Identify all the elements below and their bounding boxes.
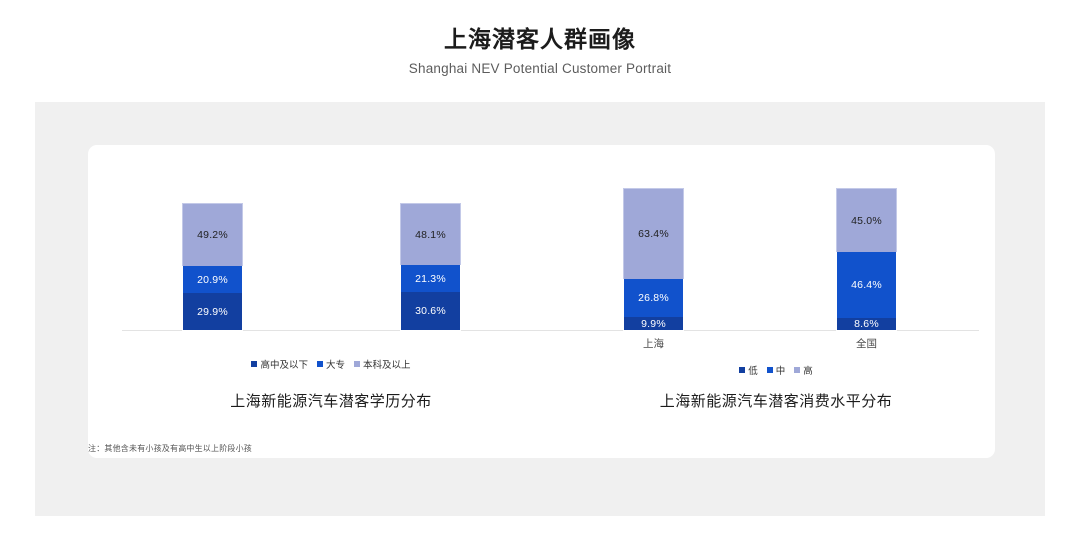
chart-caption-left: 上海新能源汽车潜客学历分布 <box>105 390 557 411</box>
bar-segment-low: 30.6% <box>400 292 461 331</box>
legend-swatch-icon <box>739 367 745 373</box>
legend-consumption: 低 中 高 <box>557 363 995 377</box>
chart-caption-right: 上海新能源汽车潜客消费水平分布 <box>557 390 995 411</box>
legend-label: 本科及以上 <box>363 357 411 371</box>
legend-swatch-icon <box>354 361 360 367</box>
x-axis-label-shanghai: 上海 <box>623 336 684 351</box>
chart-card: 49.2% 20.9% 29.9% 48.1% 21.3% 30.6% 高中及以… <box>88 145 995 458</box>
legend-item-low[interactable]: 低 <box>739 363 758 377</box>
legend-item-high[interactable]: 高 <box>794 363 813 377</box>
page-subtitle: Shanghai NEV Potential Customer Portrait <box>0 61 1080 76</box>
legend-swatch-icon <box>317 361 323 367</box>
bar-segment-mid: 26.8% <box>623 279 684 317</box>
page-title: 上海潜客人群画像 <box>0 24 1080 54</box>
table-row[interactable]: 48.1% 21.3% 30.6% <box>400 203 461 331</box>
legend-education: 高中及以下 大专 本科及以上 <box>105 357 557 371</box>
bar-segment-mid: 21.3% <box>400 265 461 292</box>
table-row[interactable]: 63.4% 26.8% 9.9% <box>623 188 684 331</box>
chart-education-distribution: 49.2% 20.9% 29.9% 48.1% 21.3% 30.6% 高中及以… <box>105 145 557 458</box>
plot-area-left: 49.2% 20.9% 29.9% 48.1% 21.3% 30.6% <box>105 145 557 331</box>
legend-label: 高中及以下 <box>260 357 308 371</box>
chart-consumption-distribution: 63.4% 26.8% 9.9% 上海 45.0% 46.4% 8.6% 全国 … <box>557 145 995 458</box>
legend-item-low[interactable]: 高中及以下 <box>251 357 308 371</box>
legend-swatch-icon <box>767 367 773 373</box>
legend-label: 中 <box>776 363 786 377</box>
bar-segment-high: 45.0% <box>836 188 897 252</box>
legend-item-mid[interactable]: 中 <box>767 363 786 377</box>
plot-area-right: 63.4% 26.8% 9.9% 上海 45.0% 46.4% 8.6% 全国 <box>557 145 995 331</box>
legend-label: 低 <box>748 363 758 377</box>
bar-segment-low: 9.9% <box>623 317 684 331</box>
bar-segment-high: 63.4% <box>623 188 684 279</box>
table-row[interactable]: 45.0% 46.4% 8.6% <box>836 188 897 331</box>
legend-label: 大专 <box>326 357 345 371</box>
bar-segment-mid: 46.4% <box>836 252 897 318</box>
legend-swatch-icon <box>794 367 800 373</box>
bar-segment-high: 49.2% <box>182 203 243 266</box>
bar-segment-low: 29.9% <box>182 293 243 331</box>
legend-item-high[interactable]: 本科及以上 <box>354 357 411 371</box>
bar-segment-mid: 20.9% <box>182 266 243 293</box>
bar-segment-high: 48.1% <box>400 203 461 265</box>
x-axis-line <box>557 330 979 331</box>
title-block: 上海潜客人群画像 Shanghai NEV Potential Customer… <box>0 24 1080 76</box>
footnote: 注：其他含未有小孩及有高中生以上阶段小孩 <box>88 443 252 454</box>
legend-label: 高 <box>803 363 813 377</box>
slide-page: 上海潜客人群画像 Shanghai NEV Potential Customer… <box>0 0 1080 547</box>
bar-segment-low: 8.6% <box>836 318 897 331</box>
table-row[interactable]: 49.2% 20.9% 29.9% <box>182 203 243 331</box>
legend-swatch-icon <box>251 361 257 367</box>
legend-item-mid[interactable]: 大专 <box>317 357 345 371</box>
x-axis-label-national: 全国 <box>836 336 897 351</box>
